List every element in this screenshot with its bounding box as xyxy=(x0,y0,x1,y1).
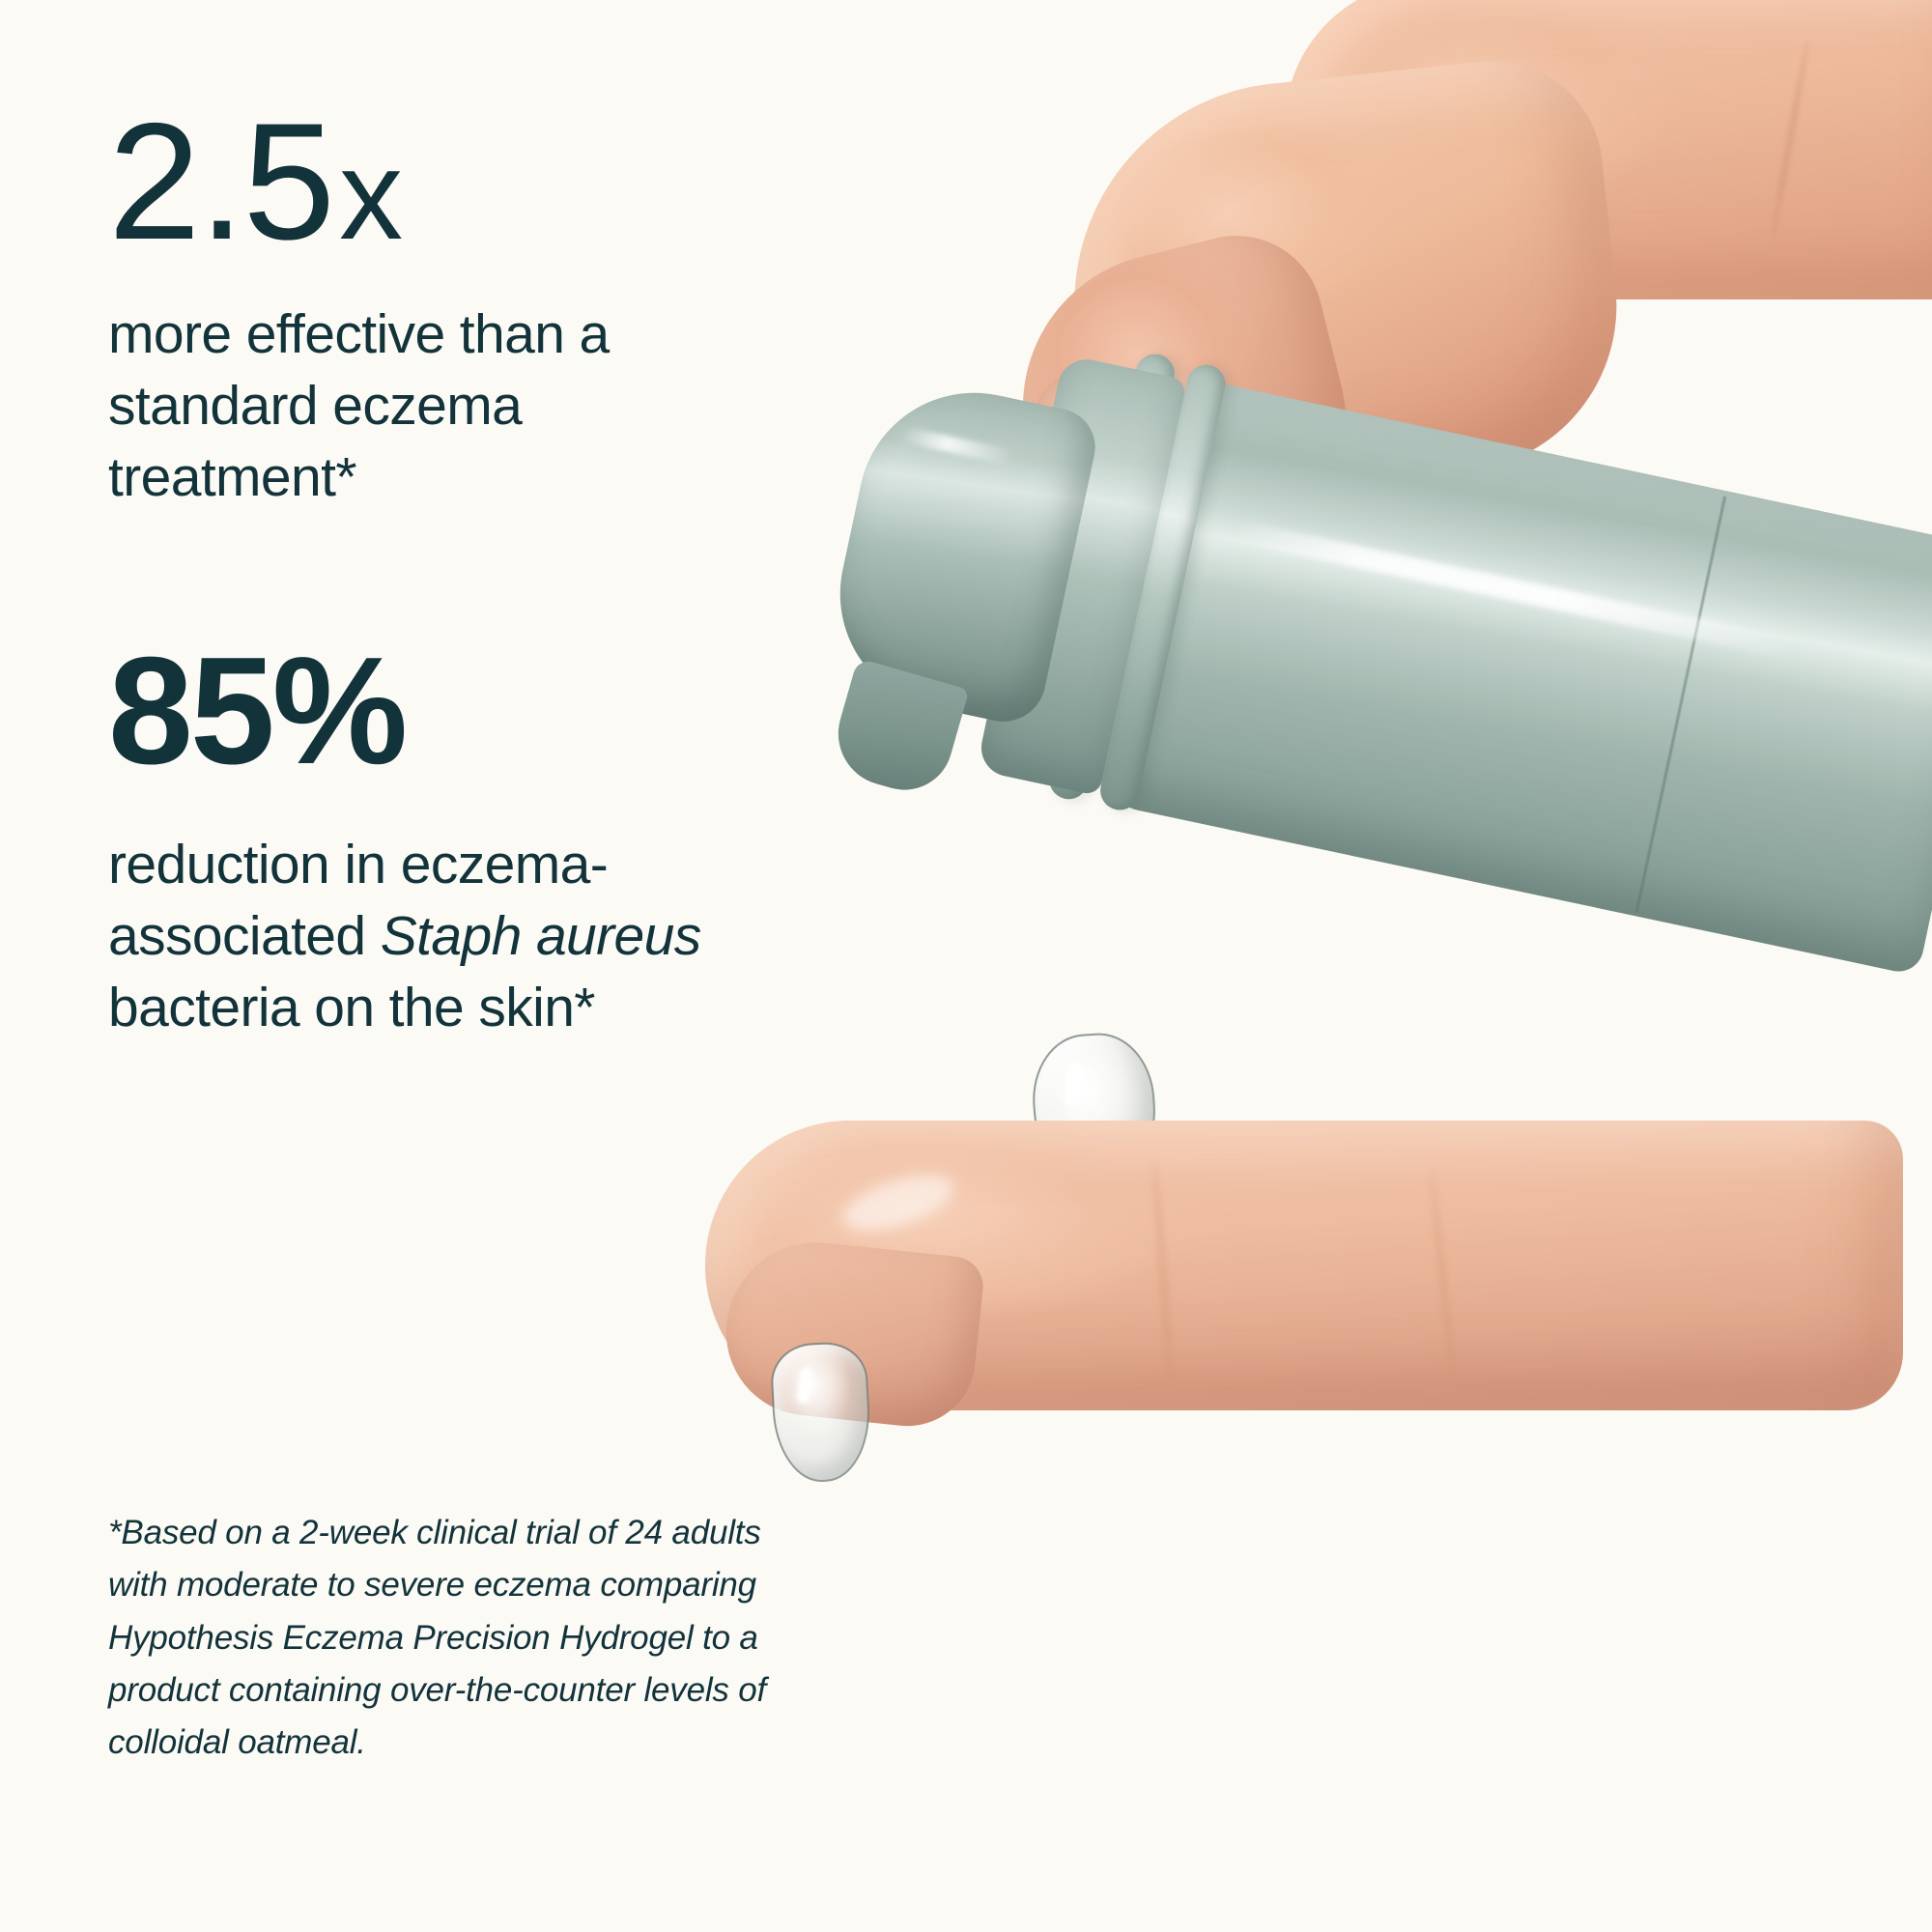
hand-lower-finger xyxy=(705,1101,1932,1642)
stat-desc-species-italic: Staph aureus xyxy=(381,905,701,967)
knuckle-crease-icon xyxy=(1151,1159,1174,1381)
stat-suffix-x: x xyxy=(339,132,403,257)
stat-description-bacteria: reduction in eczema-associated Staph aur… xyxy=(108,829,746,1043)
stat-description-effectiveness: more effective than a standard eczema tr… xyxy=(108,298,746,513)
stat-figure-percent: 85% xyxy=(108,637,881,786)
bottle-seam-line xyxy=(1635,497,1726,913)
clinical-trial-footnote: *Based on a 2-week clinical trial of 24 … xyxy=(108,1507,784,1769)
knuckle-crease-icon xyxy=(1770,40,1810,241)
promo-canvas: 2.5x more effective than a standard ecze… xyxy=(0,0,1932,1932)
stats-text-column: 2.5x more effective than a standard ecze… xyxy=(108,100,881,1043)
stat-figure-multiplier: 2.5x xyxy=(108,100,881,264)
stat-block-effectiveness: 2.5x more effective than a standard ecze… xyxy=(108,100,881,513)
knuckle-crease-icon xyxy=(1429,1169,1456,1376)
stat-block-bacteria-reduction: 85% reduction in eczema-associated Staph… xyxy=(108,637,881,1043)
gel-sheen-highlight xyxy=(837,1164,960,1242)
stat-value-2-5: 2.5 xyxy=(108,89,333,274)
stat-desc-part-post: bacteria on the skin* xyxy=(108,977,595,1038)
gel-droplet-on-finger xyxy=(769,1340,872,1484)
